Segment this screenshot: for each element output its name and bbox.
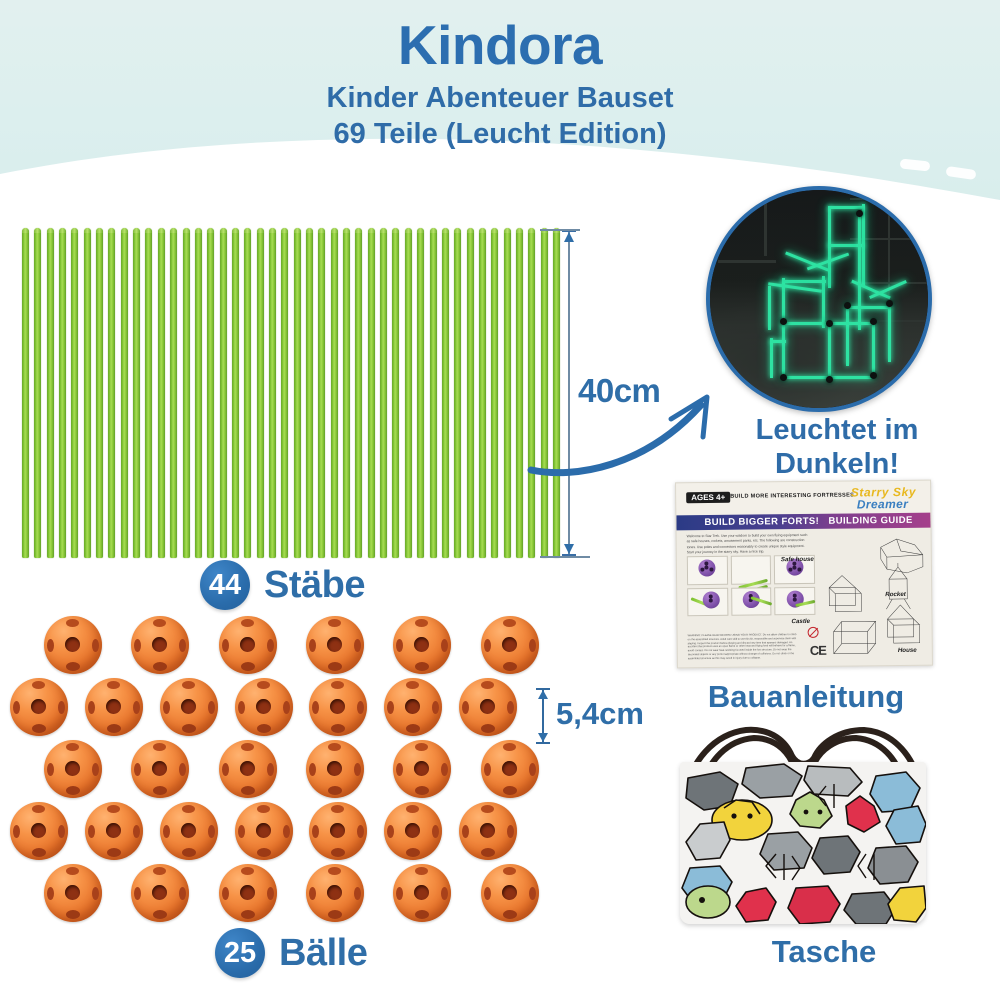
- ball-hole: [432, 825, 439, 838]
- drawstring-bag-photo: [668, 726, 938, 926]
- ball-hole: [503, 662, 517, 671]
- ball-hole: [32, 805, 45, 813]
- ball-hole: [503, 619, 516, 627]
- stick: [244, 228, 251, 558]
- ball-hole: [267, 639, 274, 652]
- ball-hole: [257, 724, 271, 733]
- manual-building-diagrams: Safe house Rocket Castle House: [823, 533, 930, 662]
- ball-hole: [331, 848, 345, 857]
- ball-hole: [133, 825, 140, 838]
- ball-hole: [152, 761, 167, 776]
- stick: [467, 228, 474, 558]
- ball: [306, 616, 364, 674]
- ball-hole: [31, 823, 46, 838]
- ball: [393, 864, 451, 922]
- ball-hole: [257, 681, 270, 689]
- ball-hole: [283, 701, 290, 714]
- ball-hole: [415, 743, 428, 751]
- manual-ages-badge: AGES 4+: [686, 492, 730, 503]
- ball-hole: [331, 681, 344, 689]
- header-background: Kindora Kinder Abenteuer Bauset 69 Teile…: [0, 0, 1000, 215]
- ball: [481, 740, 539, 798]
- ball-hole: [529, 639, 536, 652]
- ball-hole: [92, 763, 99, 776]
- ball-hole: [32, 724, 46, 733]
- ball-hole: [481, 805, 494, 813]
- stick: [71, 228, 78, 558]
- ball-hole: [396, 887, 403, 900]
- stick: [516, 228, 523, 558]
- ball: [393, 616, 451, 674]
- ball-hole: [267, 887, 274, 900]
- ball-hole: [331, 724, 345, 733]
- stick: [331, 228, 338, 558]
- ball-hole: [507, 825, 514, 838]
- stick: [504, 228, 511, 558]
- ball-hole: [312, 701, 319, 714]
- ball-hole: [32, 681, 45, 689]
- ball-hole: [441, 887, 448, 900]
- ball-hole: [503, 910, 517, 919]
- ball-hole: [481, 724, 495, 733]
- ball-hole: [13, 825, 20, 838]
- ball-hole: [153, 743, 166, 751]
- ball-hole: [406, 848, 420, 857]
- ball-hole: [330, 699, 345, 714]
- ball-hole: [107, 848, 121, 857]
- ball: [44, 616, 102, 674]
- ball-hole: [66, 619, 79, 627]
- ball-hole: [283, 825, 290, 838]
- stick: [417, 228, 424, 558]
- diagram-label-castle: Castle: [791, 618, 810, 625]
- ball-hole: [134, 639, 141, 652]
- ball-hole: [66, 910, 80, 919]
- stick: [368, 228, 375, 558]
- ball: [235, 678, 293, 736]
- sticks-label: Stäbe: [264, 564, 365, 607]
- ball-hole: [414, 637, 429, 652]
- ball-hole: [222, 887, 229, 900]
- infographic-root: Kindora Kinder Abenteuer Bauset 69 Teile…: [0, 0, 1000, 1000]
- ball-hole: [257, 848, 271, 857]
- dimension-tick-top: [540, 229, 580, 231]
- ball: [459, 802, 517, 860]
- ball-hole: [240, 637, 255, 652]
- ball: [459, 678, 517, 736]
- manual-caption: Bauanleitung: [656, 679, 956, 715]
- dimension-tick-bottom: [540, 556, 590, 558]
- ball-hole: [179, 763, 186, 776]
- ball-hole: [441, 763, 448, 776]
- ball-hole: [462, 825, 469, 838]
- ball-hole: [354, 639, 361, 652]
- ball-hole: [529, 887, 536, 900]
- ball-hole: [328, 619, 341, 627]
- ball-hole: [241, 867, 254, 875]
- ball-hole: [256, 699, 271, 714]
- ball-hole: [181, 699, 196, 714]
- ball-hole: [405, 699, 420, 714]
- ball-hole: [65, 761, 80, 776]
- ball-hole: [480, 823, 495, 838]
- ball-hole: [241, 662, 255, 671]
- instruction-manual-photo: AGES 4+ BUILD MORE INTERESTING FORTRESSE…: [675, 480, 933, 669]
- ball-hole: [309, 887, 316, 900]
- sticks-count-row: 44 Stäbe: [200, 560, 365, 610]
- ball-hole: [179, 887, 186, 900]
- no-under-age-icon: [808, 627, 819, 638]
- ball-hole: [415, 867, 428, 875]
- stick: [121, 228, 128, 558]
- stick: [22, 228, 29, 558]
- stick: [59, 228, 66, 558]
- ball-hole: [153, 619, 166, 627]
- ball-hole: [415, 910, 429, 919]
- product-subtitle-line2: 69 Teile (Leucht Edition): [0, 117, 1000, 152]
- ball-hole: [327, 885, 342, 900]
- glow-caption-line2: Dunkeln!: [712, 447, 962, 481]
- ball-hole: [432, 701, 439, 714]
- ball-hole: [152, 637, 167, 652]
- ball: [85, 678, 143, 736]
- ball-hole: [502, 885, 517, 900]
- ball: [393, 740, 451, 798]
- manual-bar-left-label: BUILD BIGGER FORTS!: [704, 516, 819, 528]
- ball-hole: [32, 848, 46, 857]
- ball: [219, 616, 277, 674]
- ball-hole: [328, 867, 341, 875]
- ball-hole: [327, 637, 342, 652]
- ball-hole: [182, 805, 195, 813]
- ball-hole: [92, 639, 99, 652]
- balls-count-row: 25 Bälle: [215, 928, 367, 978]
- ball-hole: [481, 848, 495, 857]
- sticks-count-badge: 44: [200, 560, 250, 610]
- ball-hole: [396, 639, 403, 652]
- ball-hole: [222, 639, 229, 652]
- ball: [306, 864, 364, 922]
- ball: [235, 802, 293, 860]
- bag-body: [680, 762, 926, 924]
- ball-hole: [415, 619, 428, 627]
- ball: [219, 864, 277, 922]
- ball-hole: [415, 662, 429, 671]
- ball: [306, 740, 364, 798]
- manual-section-bar: BUILD BIGGER FORTS! BUILDING GUIDE: [676, 513, 930, 531]
- manual-warning-text: WARNING: PLEASE READ BEFORE USING YOUR P…: [688, 633, 800, 661]
- ball-hole: [406, 805, 419, 813]
- ball-hole: [503, 786, 517, 795]
- stick: [47, 228, 54, 558]
- ball-hole: [396, 763, 403, 776]
- ball-hole: [106, 699, 121, 714]
- fort-diagrams-svg: [823, 533, 930, 662]
- manual-intro-text: Welcome to Star Trek. Use your wisdom to…: [687, 533, 809, 555]
- ball: [481, 616, 539, 674]
- ball-hole: [152, 885, 167, 900]
- stick: [454, 228, 461, 558]
- ball-hole: [241, 743, 254, 751]
- ball-hole: [238, 701, 245, 714]
- stick: [306, 228, 313, 558]
- glow-in-dark-photo: [706, 186, 932, 412]
- ball: [384, 802, 442, 860]
- product-subtitle-line1: Kinder Abenteuer Bauset: [0, 81, 1000, 116]
- stick: [220, 228, 227, 558]
- ball-hole: [256, 823, 271, 838]
- stick: [405, 228, 412, 558]
- ball-hole: [406, 681, 419, 689]
- ball-hole: [387, 701, 394, 714]
- ball-hole: [481, 681, 494, 689]
- ball-hole: [405, 823, 420, 838]
- ball-hole: [208, 701, 215, 714]
- ball-hole: [327, 761, 342, 776]
- stick: [108, 228, 115, 558]
- ball-hole: [414, 885, 429, 900]
- ball-hole: [267, 763, 274, 776]
- ball-hole: [133, 701, 140, 714]
- glow-caption: Leuchtet im Dunkeln!: [712, 413, 962, 481]
- stick: [269, 228, 276, 558]
- stick: [34, 228, 41, 558]
- glow-caption-line1: Leuchtet im: [712, 413, 962, 447]
- ball-hole: [163, 825, 170, 838]
- ball-hole: [507, 701, 514, 714]
- ball-hole: [240, 885, 255, 900]
- ball-hole: [406, 724, 420, 733]
- stick: [170, 228, 177, 558]
- ball-hole: [153, 662, 167, 671]
- ball-hole: [107, 805, 120, 813]
- diagram-label-safe-house: Safe house: [781, 556, 814, 563]
- ball-hole: [31, 699, 46, 714]
- ball-hole: [414, 761, 429, 776]
- ball-hole: [179, 639, 186, 652]
- ball: [131, 864, 189, 922]
- stick: [442, 228, 449, 558]
- brand-title: Kindora: [0, 16, 1000, 75]
- ball-hole: [182, 681, 195, 689]
- ball: [44, 864, 102, 922]
- stick: [96, 228, 103, 558]
- ball-hole: [13, 701, 20, 714]
- ball-hole: [241, 619, 254, 627]
- ball-hole: [240, 761, 255, 776]
- ball-hole: [309, 639, 316, 652]
- ball-hole: [462, 701, 469, 714]
- stick: [318, 228, 325, 558]
- ball-hole: [181, 823, 196, 838]
- ball-hole: [208, 825, 215, 838]
- ball-hole: [153, 786, 167, 795]
- header-text-block: Kindora Kinder Abenteuer Bauset 69 Teile…: [0, 16, 1000, 152]
- ball: [160, 802, 218, 860]
- stick: [84, 228, 91, 558]
- manual-step-cell: [731, 587, 772, 616]
- ball-hole: [47, 763, 54, 776]
- ball: [309, 678, 367, 736]
- ball-hole: [47, 639, 54, 652]
- stick: [257, 228, 264, 558]
- ball-hole: [88, 701, 95, 714]
- stick: [145, 228, 152, 558]
- sticks-group: [22, 228, 560, 558]
- ball-dimension-label: 5,4cm: [556, 696, 644, 732]
- ball-hole: [328, 786, 342, 795]
- ball: [85, 802, 143, 860]
- ball-hole: [415, 786, 429, 795]
- ball-hole: [222, 763, 229, 776]
- ball-hole: [484, 887, 491, 900]
- ball-hole: [484, 639, 491, 652]
- stick: [133, 228, 140, 558]
- balls-group: [20, 612, 580, 924]
- ball-hole: [502, 761, 517, 776]
- ball-hole: [65, 637, 80, 652]
- ball: [219, 740, 277, 798]
- diagram-label-house: House: [898, 647, 917, 654]
- ball-hole: [134, 887, 141, 900]
- ball-hole: [65, 885, 80, 900]
- bag-caption: Tasche: [674, 934, 974, 970]
- ball-hole: [309, 763, 316, 776]
- stick: [430, 228, 437, 558]
- ball: [160, 678, 218, 736]
- ball: [131, 616, 189, 674]
- manual-bar-right-label: BUILDING GUIDE: [828, 515, 912, 527]
- ball-hole: [106, 823, 121, 838]
- ball-hole: [163, 701, 170, 714]
- ball-hole: [66, 867, 79, 875]
- stick: [343, 228, 350, 558]
- ball-hole: [441, 639, 448, 652]
- manual-step-cell: [687, 556, 728, 585]
- ball-hole: [107, 724, 121, 733]
- bag-pattern-svg: [680, 762, 926, 924]
- manual-brand-line2: Dreamer: [857, 497, 909, 512]
- ball-hole: [331, 805, 344, 813]
- ball-hole: [66, 786, 80, 795]
- ball-hole: [328, 743, 341, 751]
- stick: [294, 228, 301, 558]
- ball-hole: [529, 763, 536, 776]
- manual-step-cell: [774, 586, 815, 615]
- ball-dimension-line: [536, 688, 550, 744]
- diagram-label-rocket: Rocket: [885, 591, 906, 598]
- balls-label: Bälle: [279, 932, 367, 975]
- stick: [491, 228, 498, 558]
- ball-hole: [241, 786, 255, 795]
- ball-hole: [502, 637, 517, 652]
- ball-hole: [58, 701, 65, 714]
- ball-hole: [257, 805, 270, 813]
- ball: [384, 678, 442, 736]
- ball: [10, 802, 68, 860]
- ball: [44, 740, 102, 798]
- ball-hole: [354, 887, 361, 900]
- ball-hole: [357, 825, 364, 838]
- ball-hole: [182, 848, 196, 857]
- ball-hole: [182, 724, 196, 733]
- manual-step-cell: [687, 587, 728, 616]
- stick: [158, 228, 165, 558]
- ball-hole: [238, 825, 245, 838]
- stick: [392, 228, 399, 558]
- ball-hole: [328, 910, 342, 919]
- ball-hole: [354, 763, 361, 776]
- manual-step-grid: [687, 555, 816, 616]
- stick: [195, 228, 202, 558]
- stick: [183, 228, 190, 558]
- ball-hole: [241, 910, 255, 919]
- stick: [281, 228, 288, 558]
- stick: [207, 228, 214, 558]
- ball-hole: [330, 823, 345, 838]
- stick: [355, 228, 362, 558]
- ball-hole: [47, 887, 54, 900]
- ball-hole: [134, 763, 141, 776]
- ball: [481, 864, 539, 922]
- stick: [380, 228, 387, 558]
- ball-hole: [153, 867, 166, 875]
- ball-hole: [312, 825, 319, 838]
- ball: [10, 678, 68, 736]
- ball: [131, 740, 189, 798]
- ball: [309, 802, 367, 860]
- ball-hole: [66, 662, 80, 671]
- stick: [479, 228, 486, 558]
- manual-step-cell: [730, 555, 771, 584]
- ball-hole: [58, 825, 65, 838]
- ball-hole: [328, 662, 342, 671]
- ball-hole: [480, 699, 495, 714]
- ball-hole: [503, 743, 516, 751]
- stick: [232, 228, 239, 558]
- ball-hole: [387, 825, 394, 838]
- ball-hole: [107, 681, 120, 689]
- ball-hole: [92, 887, 99, 900]
- ball-hole: [484, 763, 491, 776]
- ball-hole: [503, 867, 516, 875]
- ball-hole: [88, 825, 95, 838]
- ball-hole: [153, 910, 167, 919]
- ball-hole: [66, 743, 79, 751]
- ball-hole: [357, 701, 364, 714]
- balls-count-badge: 25: [215, 928, 265, 978]
